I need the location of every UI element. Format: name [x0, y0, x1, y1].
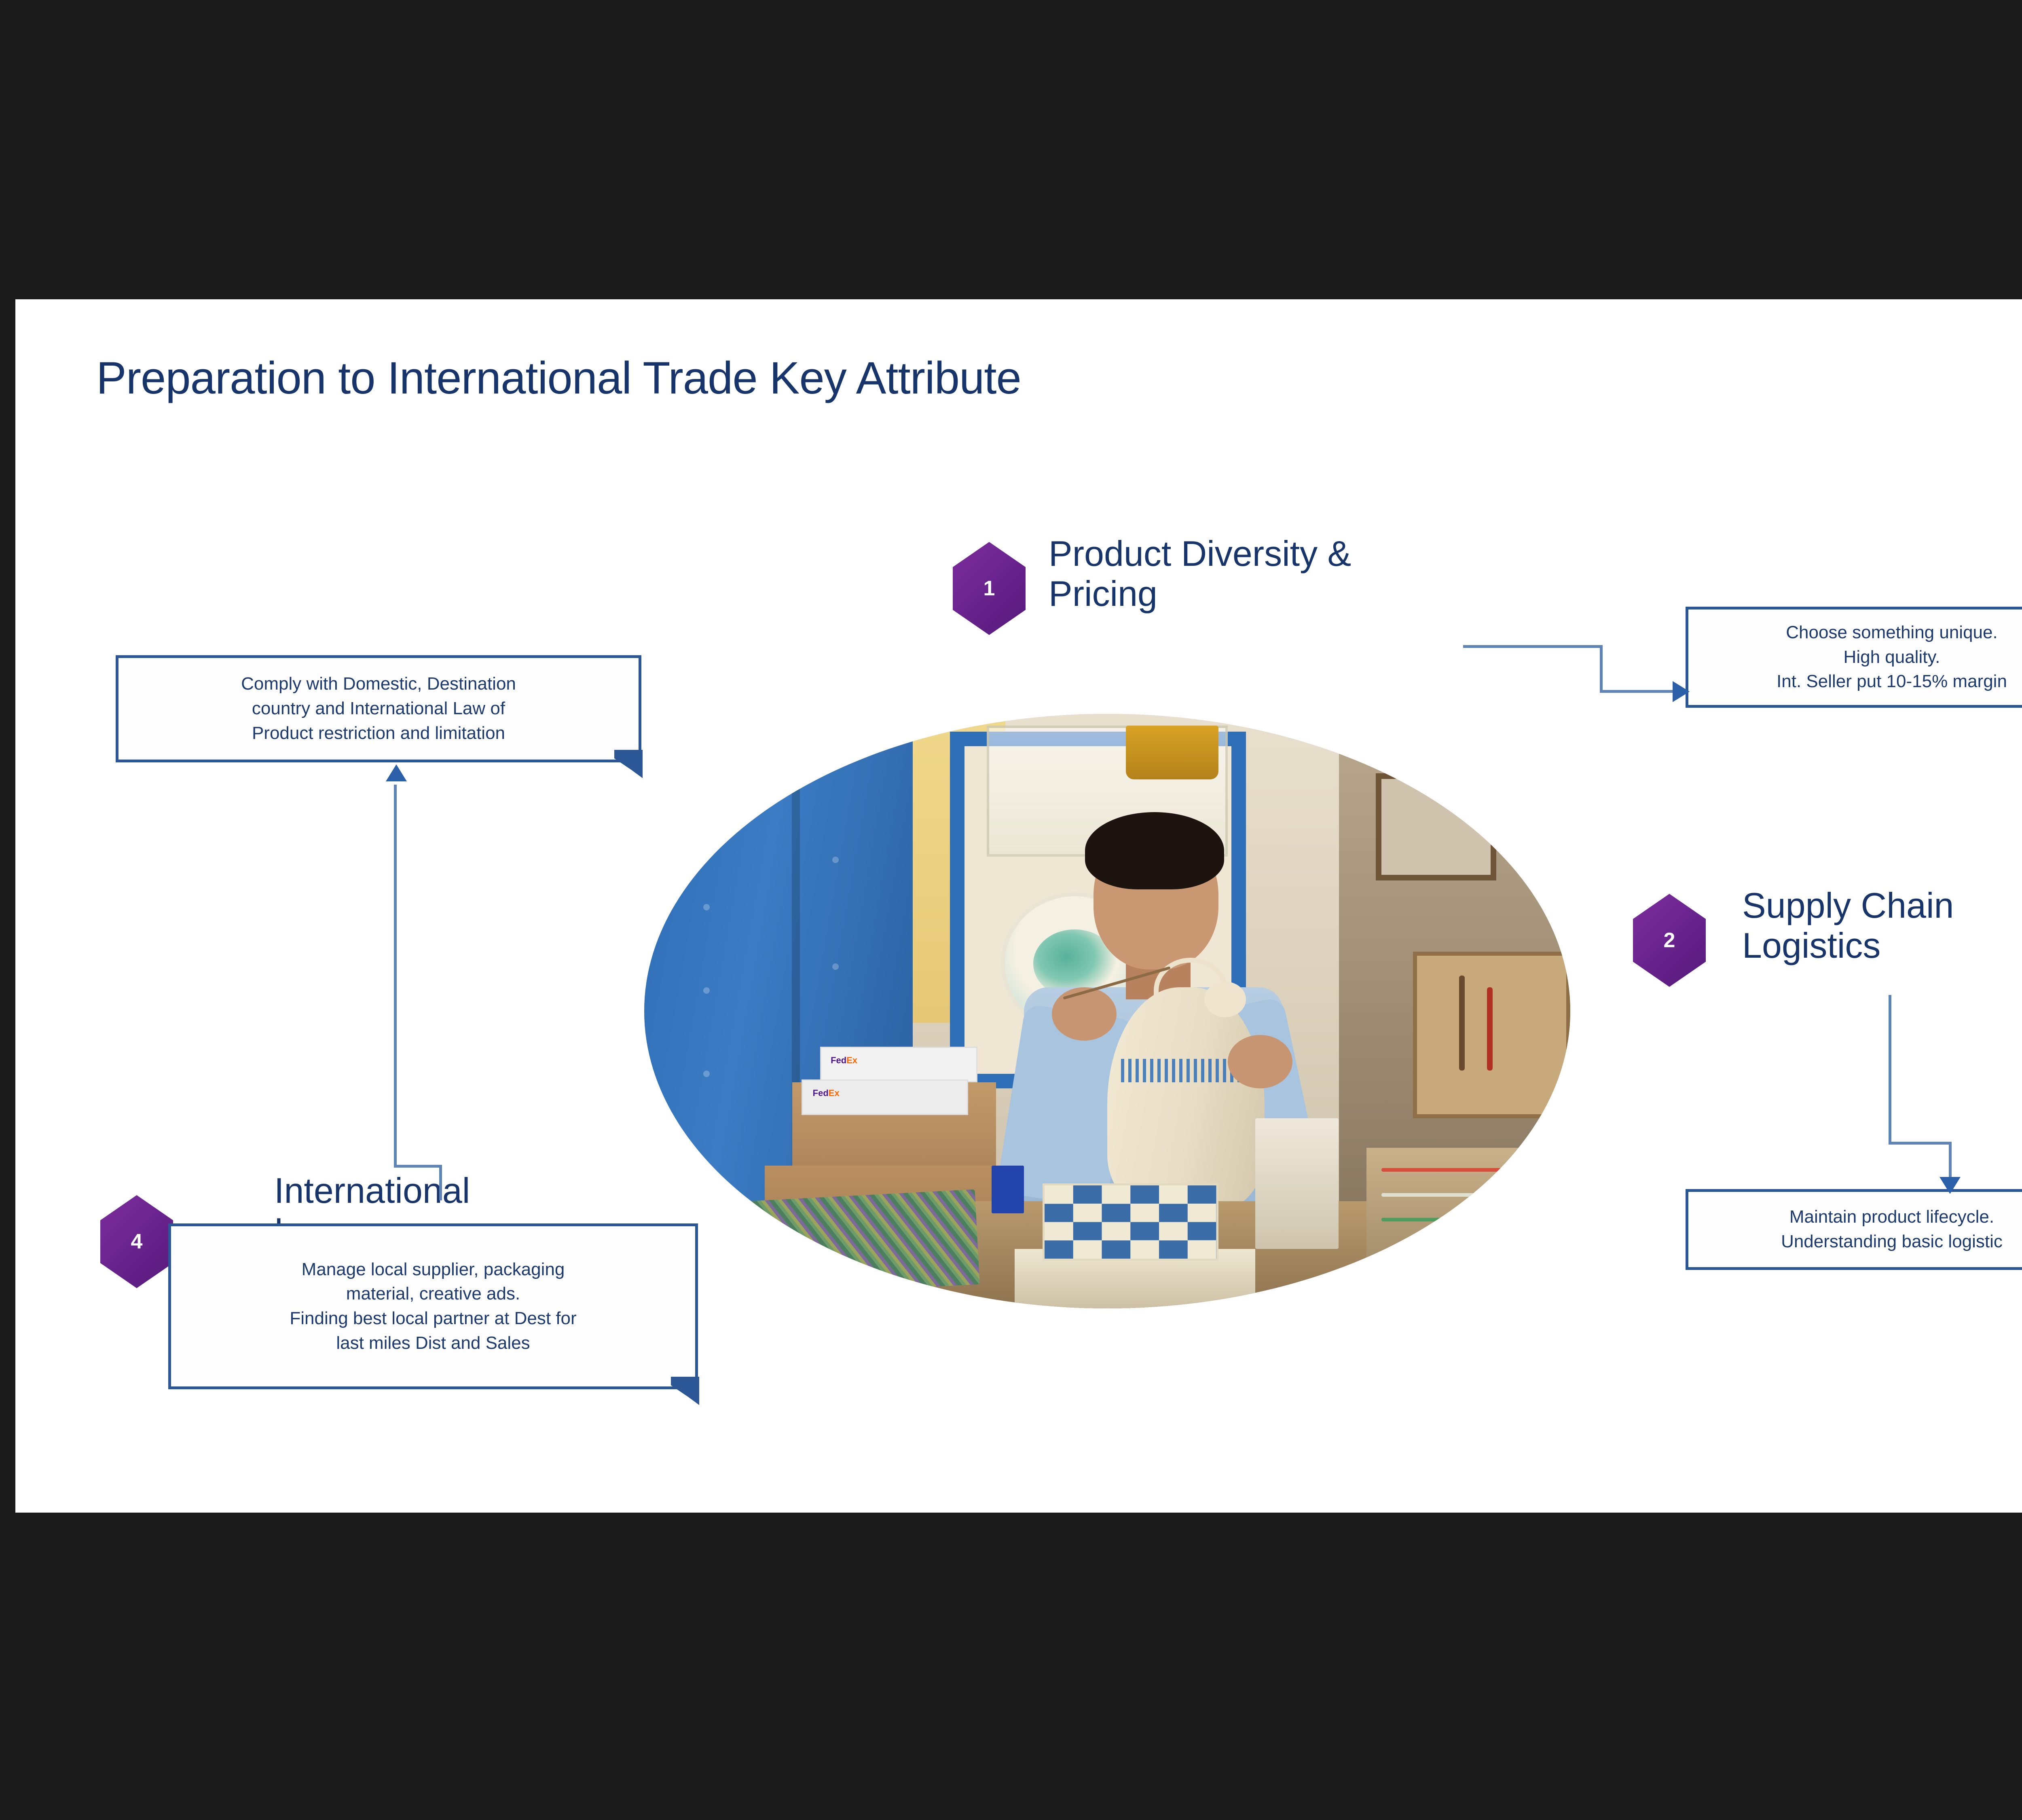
- connector-1-arrowhead: [1673, 681, 1690, 702]
- connector-1-vertical: [1600, 645, 1603, 693]
- connector-2-vertical-a: [1889, 995, 1891, 1145]
- callout-tail: [614, 750, 643, 778]
- step-label-1-line2: Pricing: [1049, 574, 1554, 614]
- step-label-2: Supply Chain Logistics: [1742, 886, 2022, 965]
- connector-2-vertical-b: [1949, 1142, 1952, 1180]
- connector-4-horizontal: [394, 1165, 442, 1168]
- callout-product-line2: High quality.: [1777, 645, 2007, 670]
- callout-law-line3: Product restriction and limitation: [241, 721, 516, 746]
- connector-4-vertical-b: [394, 785, 397, 1167]
- step-label-1-line1: Product Diversity &: [1049, 534, 1554, 574]
- callout-marketing-line1: Manage local supplier, packaging: [290, 1257, 576, 1282]
- connector-2-arrowhead: [1940, 1177, 1961, 1194]
- step-hexagon-4[interactable]: 4: [100, 1195, 173, 1288]
- callout-product-pricing[interactable]: Choose something unique. High quality. I…: [1686, 607, 2022, 708]
- step-hexagon-1[interactable]: 1: [953, 542, 1026, 635]
- page-title: Preparation to International Trade Key A…: [96, 352, 1021, 404]
- callout-logistics-line1: Maintain product lifecycle.: [1781, 1205, 2003, 1230]
- callout-law-line2: country and International Law of: [241, 696, 516, 721]
- callout-international-law[interactable]: Comply with Domestic, Destination countr…: [116, 655, 641, 762]
- callout-supply-chain[interactable]: Maintain product lifecycle. Understandin…: [1686, 1189, 2022, 1270]
- step-number-4: 4: [131, 1230, 143, 1254]
- connector-1-horizontal-a: [1463, 645, 1603, 648]
- callout-logistics-line2: Understanding basic logistic: [1781, 1230, 2003, 1254]
- callout-marketing-line4: last miles Dist and Sales: [290, 1331, 576, 1356]
- step-hexagon-2[interactable]: 2: [1633, 894, 1706, 987]
- step-label-4-line1: International: [274, 1171, 679, 1211]
- center-artisan-photo: FedEx FedEx: [644, 714, 1570, 1308]
- step-label-2-line2: Logistics: [1742, 926, 2022, 966]
- callout-marketing-line2: material, creative ads.: [290, 1282, 576, 1306]
- connector-2-horizontal: [1889, 1142, 1951, 1145]
- callout-product-line3: Int. Seller put 10-15% margin: [1777, 669, 2007, 694]
- step-label-2-line1: Supply Chain: [1742, 886, 2022, 926]
- step-number-1: 1: [984, 576, 995, 601]
- callout-product-line1: Choose something unique.: [1777, 620, 2007, 645]
- callout-tail: [671, 1377, 699, 1405]
- step-label-1: Product Diversity & Pricing: [1049, 534, 1554, 614]
- screen-canvas: Preparation to International Trade Key A…: [0, 0, 2022, 1820]
- callout-marketing-line3: Finding best local partner at Dest for: [290, 1306, 576, 1331]
- connector-4-vertical-a: [439, 1165, 442, 1200]
- callout-law-line1: Comply with Domestic, Destination: [241, 672, 516, 696]
- connector-1-horizontal-b: [1600, 690, 1677, 693]
- presentation-slide[interactable]: Preparation to International Trade Key A…: [15, 299, 2022, 1513]
- callout-strategic-marketing[interactable]: Manage local supplier, packaging materia…: [168, 1223, 698, 1389]
- connector-4-arrowhead: [386, 764, 407, 781]
- step-number-2: 2: [1664, 928, 1675, 952]
